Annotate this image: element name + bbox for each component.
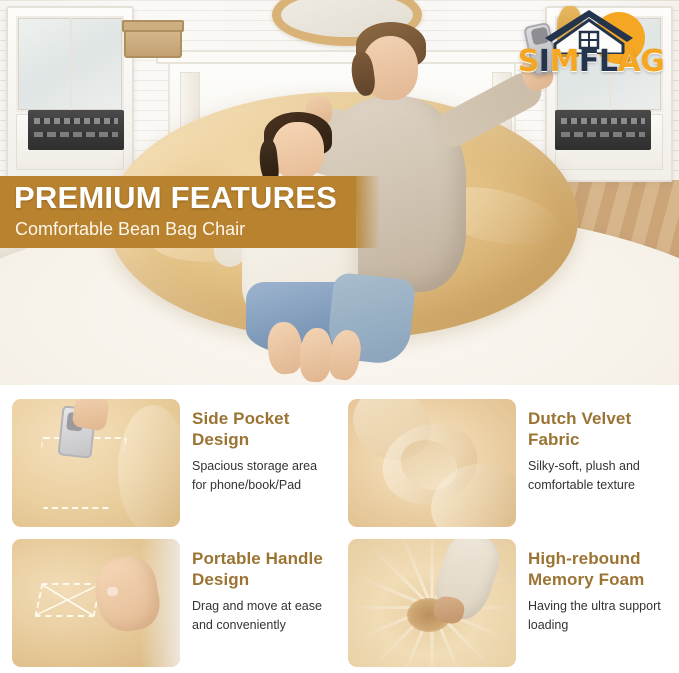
feature-description: Drag and move at ease and conveniently: [192, 597, 331, 633]
cabinet-glass-door: [16, 16, 124, 112]
console-strip: [561, 118, 645, 124]
console-strip: [561, 132, 645, 137]
brand-letter: I: [539, 44, 550, 79]
brand-letter: F: [579, 44, 599, 79]
brand-logo: SIMFLAG: [509, 6, 673, 82]
child-head: [272, 122, 324, 180]
feature-text: High-rebound Memory Foam Having the ultr…: [528, 539, 667, 667]
fabric-crease: [431, 539, 434, 607]
feature-description: Silky-soft, plush and comfortable textur…: [528, 457, 667, 493]
feature-title: Side Pocket Design: [192, 409, 331, 450]
feature-card-memory-foam: High-rebound Memory Foam Having the ultr…: [344, 533, 671, 673]
brand-letter: G: [640, 44, 664, 79]
features-row-top: Side Pocket Design Spacious storage area…: [8, 393, 671, 533]
media-console-left: [28, 110, 124, 150]
mantel-shelf: [156, 50, 528, 64]
feature-title: Dutch Velvet Fabric: [528, 409, 667, 450]
hero-section: PREMIUM FEATURES Comfortable Bean Bag Ch…: [0, 0, 679, 385]
console-strip: [34, 118, 118, 124]
wicker-basket: [124, 24, 182, 58]
fabric-crease: [348, 539, 433, 608]
features-row-bottom: Portable Handle Design Drag and move at …: [8, 533, 671, 673]
feature-image-portable-handle: [12, 539, 180, 667]
feature-description: Having the ultra support loading: [528, 597, 667, 633]
fabric-fold: [118, 405, 180, 527]
handle-stitch-outline: [34, 583, 101, 617]
media-console-right: [555, 110, 651, 150]
feature-image-side-pocket: [12, 399, 180, 527]
feature-card-portable-handle: Portable Handle Design Drag and move at …: [8, 533, 335, 673]
brand-letter: M: [549, 44, 578, 79]
banner-fade-edge: [356, 176, 380, 248]
banner-title: PREMIUM FEATURES: [14, 180, 337, 216]
feature-text: Dutch Velvet Fabric Silky-soft, plush an…: [528, 399, 667, 527]
console-strip: [34, 132, 118, 137]
feature-text: Portable Handle Design Drag and move at …: [192, 539, 331, 667]
features-section: Side Pocket Design Spacious storage area…: [0, 385, 679, 669]
feature-card-side-pocket: Side Pocket Design Spacious storage area…: [8, 393, 335, 533]
banner-subtitle: Comfortable Bean Bag Chair: [15, 219, 245, 240]
feature-description: Spacious storage area for phone/book/Pad: [192, 457, 331, 493]
feature-text: Side Pocket Design Spacious storage area…: [192, 399, 331, 527]
feature-card-dutch-velvet: Dutch Velvet Fabric Silky-soft, plush an…: [344, 393, 671, 533]
feature-title: High-rebound Memory Foam: [528, 549, 667, 590]
feature-image-memory-foam: [348, 539, 516, 667]
feature-title: Portable Handle Design: [192, 549, 331, 590]
brand-letter: S: [518, 44, 539, 79]
brand-wordmark: SIMFLAG: [509, 44, 673, 79]
hand-shape: [71, 399, 111, 432]
cabinet-left: [6, 6, 134, 182]
brand-letter: A: [617, 44, 640, 79]
feature-image-dutch-velvet: [348, 399, 516, 527]
fingernail: [107, 587, 118, 596]
brand-letter: L: [599, 44, 618, 79]
